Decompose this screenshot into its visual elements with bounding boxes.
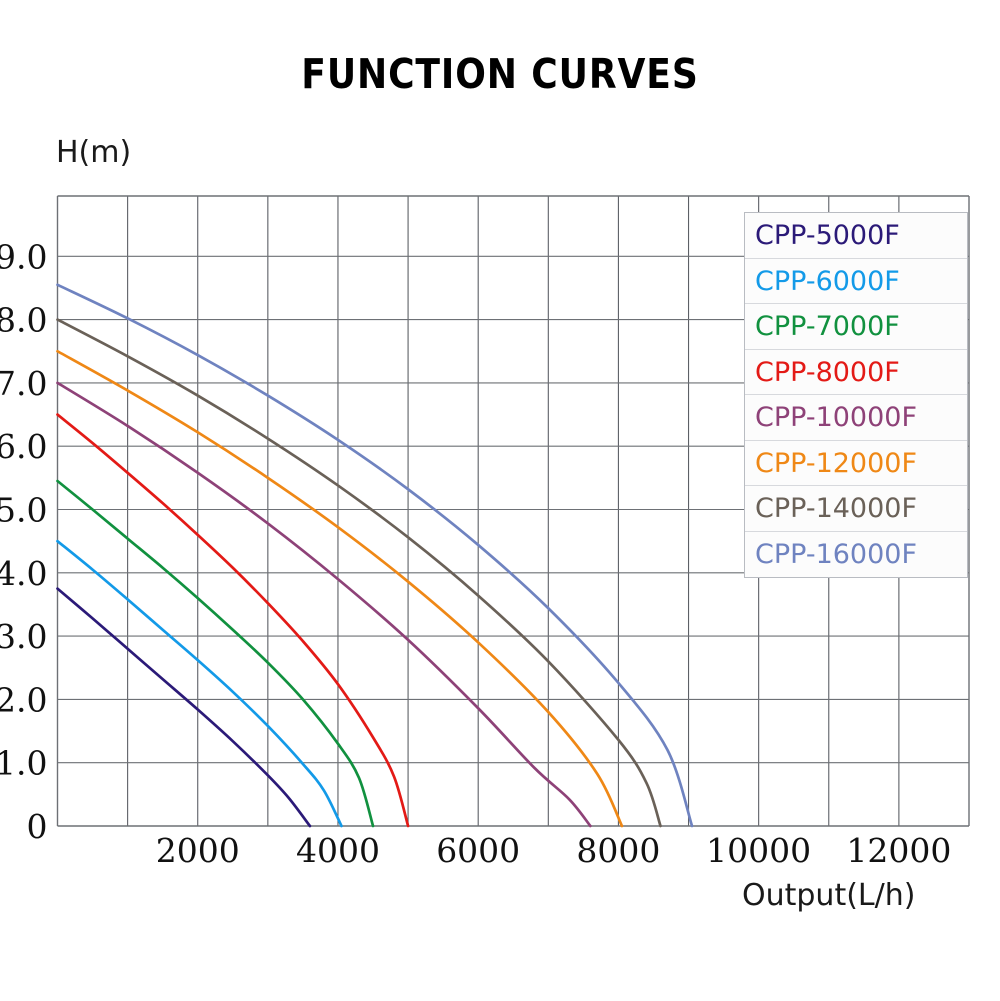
y-tick-label: 6.0 xyxy=(0,427,48,466)
x-tick-label: 12000 xyxy=(846,831,951,870)
x-tick-label: 10000 xyxy=(706,831,811,870)
curve-cpp-7000f xyxy=(58,481,374,826)
x-tick-label: 6000 xyxy=(436,831,520,870)
legend-item-label: CPP-6000F xyxy=(755,266,900,297)
legend-item-label: CPP-5000F xyxy=(755,220,900,251)
y-tick-label: 0 xyxy=(27,807,48,846)
curve-cpp-6000f xyxy=(58,541,342,826)
y-tick-label: 2.0 xyxy=(0,680,48,719)
x-tick-label: 4000 xyxy=(296,831,380,870)
legend-item-label: CPP-16000F xyxy=(755,539,917,570)
y-tick-label: 1.0 xyxy=(0,744,48,783)
legend-item-label: CPP-7000F xyxy=(755,311,900,342)
x-tick-labels: 20004000600080001000012000 xyxy=(156,831,952,870)
legend-item[interactable]: CPP-5000F xyxy=(745,213,967,259)
curve-cpp-10000f xyxy=(58,383,591,826)
curve-cpp-8000f xyxy=(58,415,409,826)
legend-item[interactable]: CPP-12000F xyxy=(745,441,967,487)
x-tick-label: 8000 xyxy=(576,831,660,870)
legend-item[interactable]: CPP-6000F xyxy=(745,259,967,305)
y-tick-label: 4.0 xyxy=(0,554,48,593)
x-tick-label: 2000 xyxy=(156,831,240,870)
function-curves-chart: FUNCTION CURVES H(m) 01.02.03.04.05.06.0… xyxy=(0,0,1000,1001)
y-tick-label: 5.0 xyxy=(0,491,48,530)
x-axis-label: Output(L/h) xyxy=(742,878,915,913)
legend-item-label: CPP-8000F xyxy=(755,357,900,388)
legend: CPP-5000FCPP-6000FCPP-7000FCPP-8000FCPP-… xyxy=(744,212,968,578)
legend-item-label: CPP-12000F xyxy=(755,448,917,479)
curve-cpp-5000f xyxy=(58,589,310,826)
y-tick-label: 3.0 xyxy=(0,617,48,656)
legend-item[interactable]: CPP-16000F xyxy=(745,532,967,578)
y-tick-labels: 01.02.03.04.05.06.07.08.09.0 xyxy=(0,237,48,846)
y-tick-label: 7.0 xyxy=(0,364,48,403)
legend-item[interactable]: CPP-7000F xyxy=(745,304,967,350)
legend-item[interactable]: CPP-14000F xyxy=(745,486,967,532)
y-tick-label: 9.0 xyxy=(0,237,48,276)
curve-cpp-12000f xyxy=(58,351,622,826)
curve-group xyxy=(58,285,693,826)
legend-item-label: CPP-10000F xyxy=(755,402,917,433)
legend-item[interactable]: CPP-8000F xyxy=(745,350,967,396)
legend-item-label: CPP-14000F xyxy=(755,493,917,524)
legend-item[interactable]: CPP-10000F xyxy=(745,395,967,441)
y-tick-label: 8.0 xyxy=(0,301,48,340)
